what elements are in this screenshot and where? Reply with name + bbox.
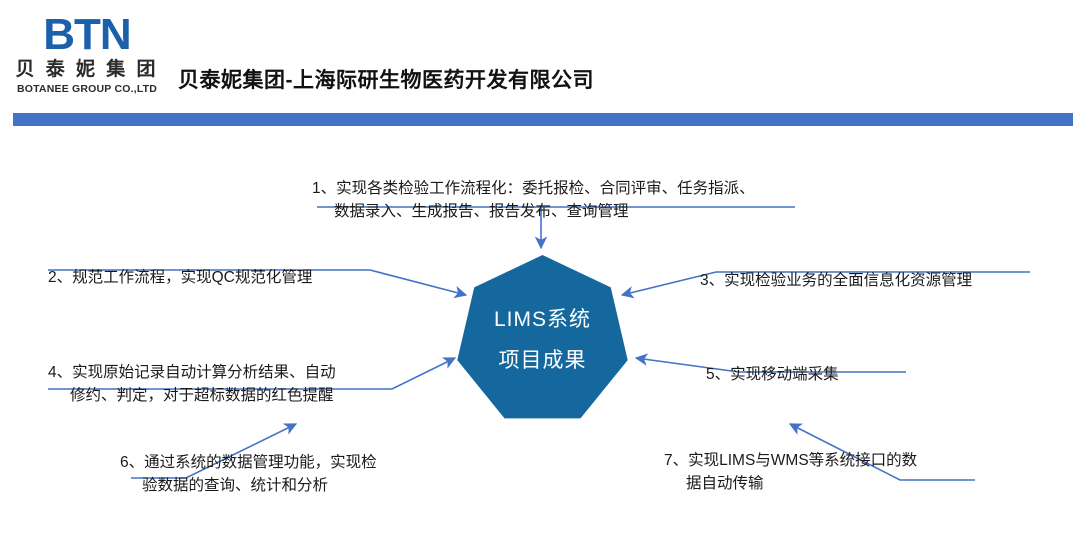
callout-item-1: 1、实现各类检验工作流程化：委托报检、合同评审、任务指派、 数据录入、生成报告、… [312, 156, 812, 246]
callout-item-6: 6、通过系统的数据管理功能，实现检 验数据的查询、统计和分析 [120, 430, 450, 520]
callout-item-4: 4、实现原始记录自动计算分析结果、自动 修约、判定，对于超标数据的红色提醒 [48, 340, 398, 430]
callout-item-7: 7、实现LIMS与WMS等系统接口的数 据自动传输 [664, 428, 994, 518]
callout-item-4-line2: 修约、判定，对于超标数据的红色提醒 [48, 385, 398, 407]
lims-benefits-diagram: LIMS系统 项目成果 1、实现各类检验工作流程化：委托报检、合同评审、任务指派… [0, 130, 1080, 540]
callout-item-6-line1: 6、通过系统的数据管理功能，实现检 [120, 454, 377, 471]
page-header: BTN 贝 泰 妮 集 团 BOTANEE GROUP CO.,LTD 贝泰妮集… [0, 0, 1080, 130]
page-title: 贝泰妮集团-上海际研生物医药开发有限公司 [178, 64, 594, 94]
callout-item-1-line1: 1、实现各类检验工作流程化：委托报检、合同评审、任务指派、 [312, 180, 755, 197]
callout-item-5-line1: 5、实现移动端采集 [706, 366, 839, 383]
callout-item-4-line1: 4、实现原始记录自动计算分析结果、自动 [48, 364, 336, 381]
callout-item-5: 5、实现移动端采集 [706, 342, 1006, 387]
callout-item-6-line2: 验数据的查询、统计和分析 [120, 475, 450, 497]
callout-item-7-line2: 据自动传输 [664, 473, 994, 495]
company-logo: BTN 贝 泰 妮 集 团 BOTANEE GROUP CO.,LTD [12, 14, 162, 94]
logo-wordmark: BTN [12, 14, 162, 56]
center-label-line2: 项目成果 [499, 341, 587, 382]
callout-item-2: 2、规范工作流程，实现QC规范化管理 [48, 245, 388, 290]
callout-item-7-line1: 7、实现LIMS与WMS等系统接口的数 [664, 452, 917, 469]
callout-item-2-line1: 2、规范工作流程，实现QC规范化管理 [48, 269, 312, 286]
logo-english-name: BOTANEE GROUP CO.,LTD [12, 84, 162, 95]
callout-item-3-line1: 3、实现检验业务的全面信息化资源管理 [700, 272, 972, 289]
logo-chinese-name: 贝 泰 妮 集 团 [12, 60, 162, 81]
callout-item-3: 3、实现检验业务的全面信息化资源管理 [700, 248, 1030, 293]
header-divider-bar [13, 113, 1073, 126]
callout-item-1-line2: 数据录入、生成报告、报告发布、查询管理 [312, 201, 812, 223]
center-label-line1: LIMS系统 [494, 300, 591, 341]
